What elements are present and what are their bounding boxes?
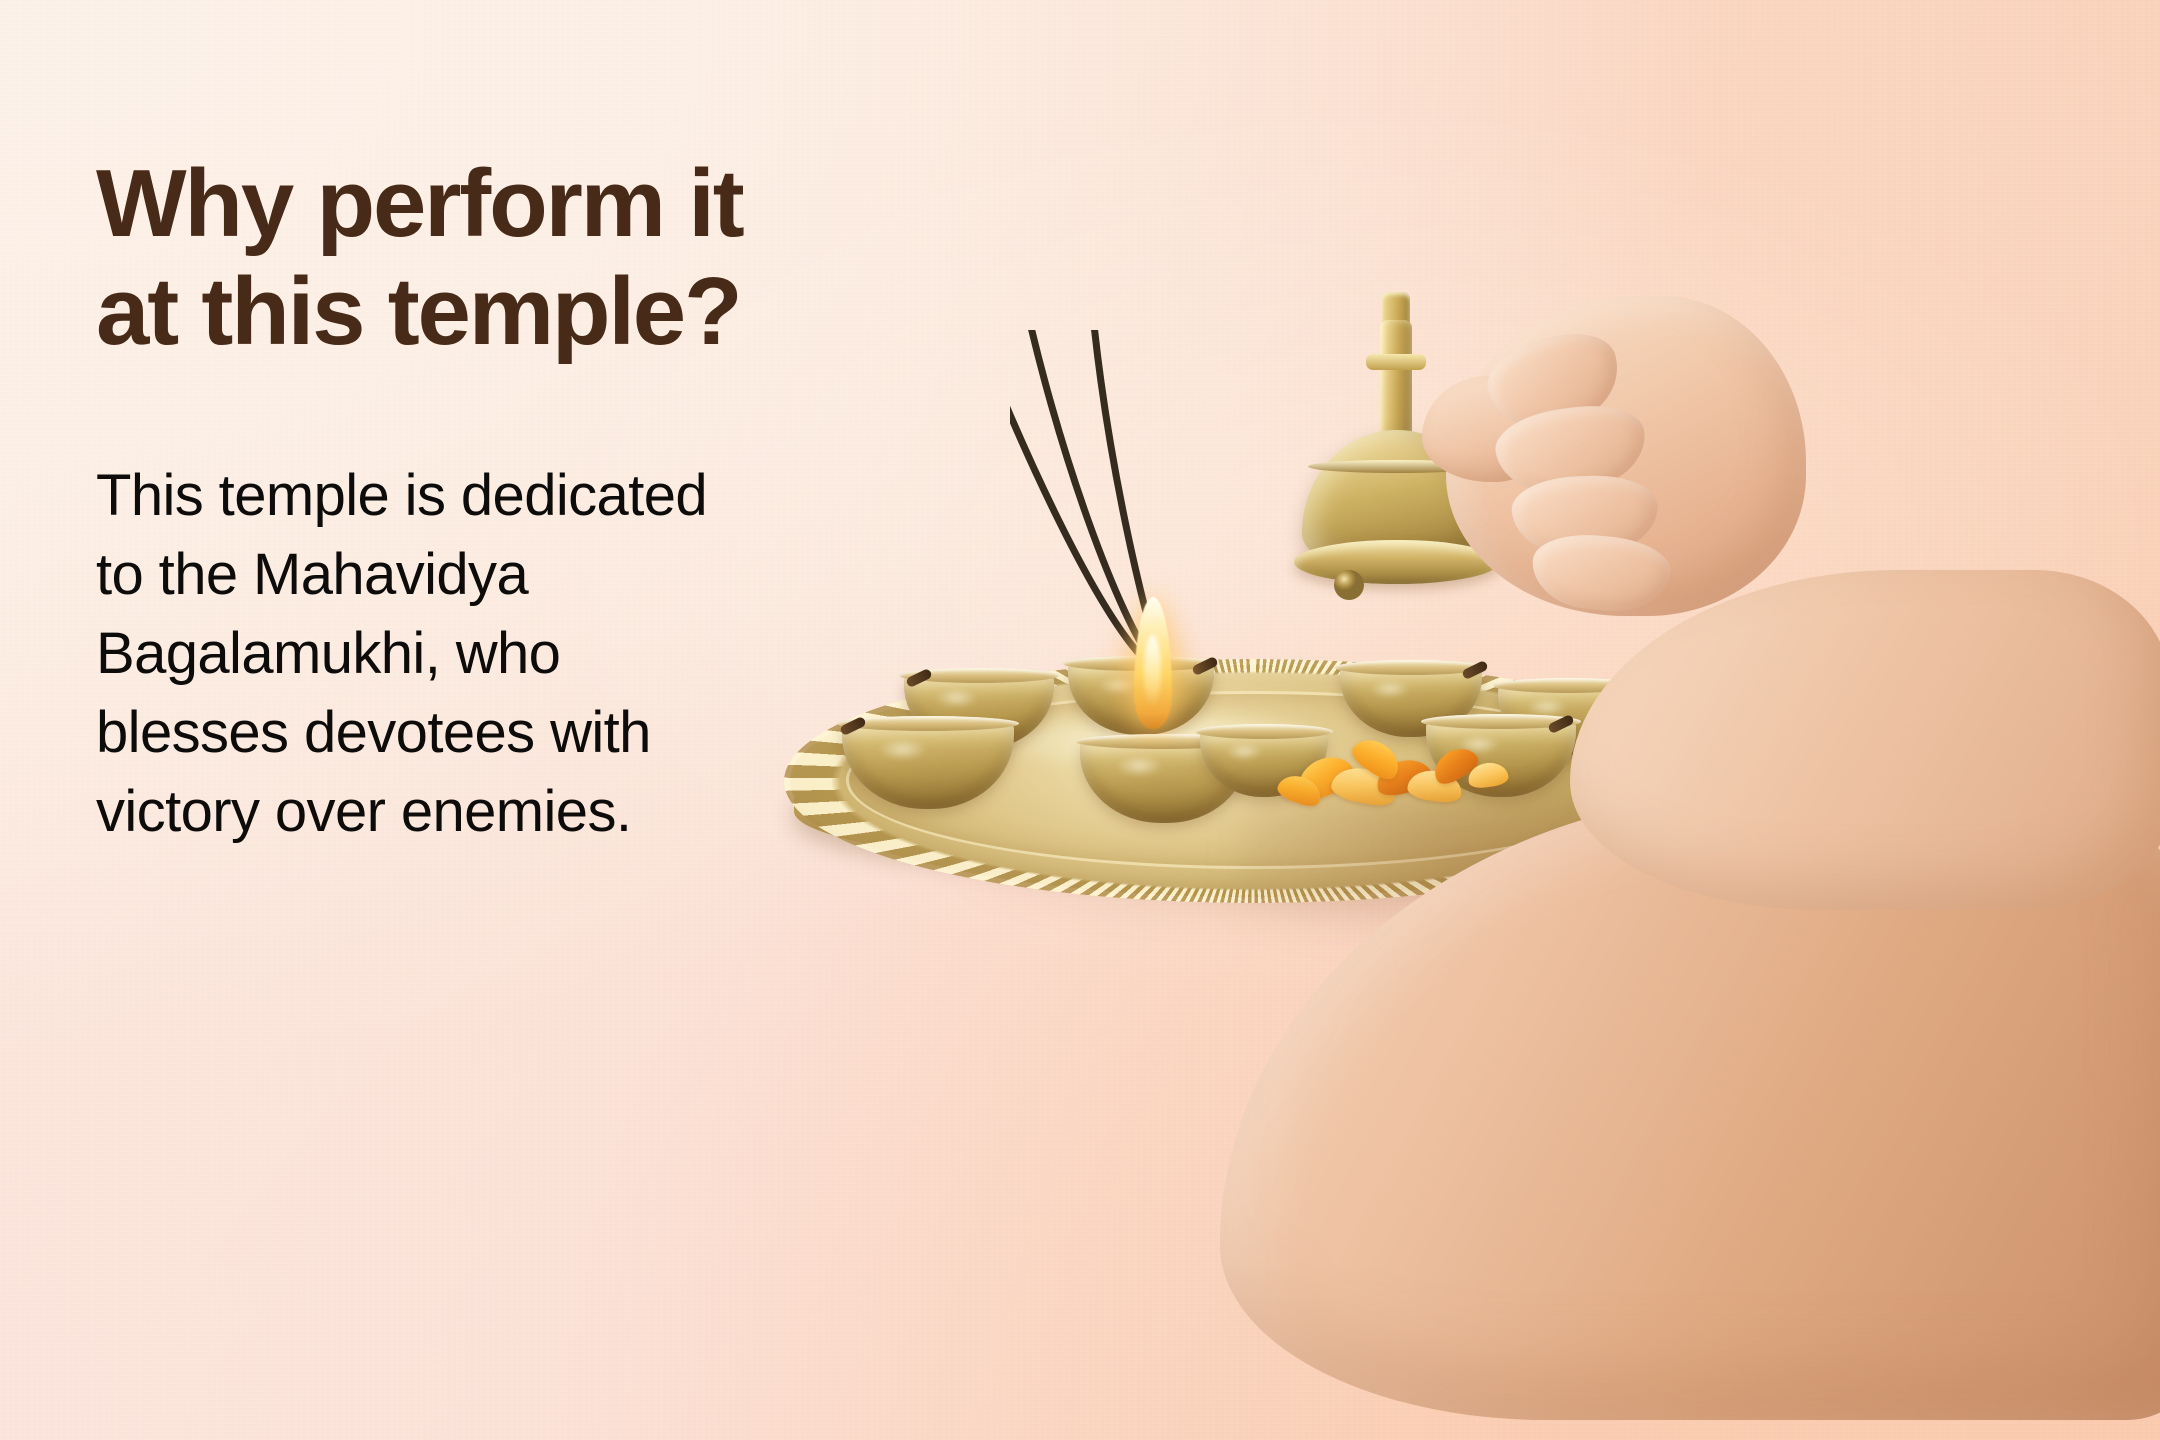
puja-photograph (1010, 330, 2160, 1440)
diya-flame (1118, 597, 1188, 747)
slide-root: Why perform it at this temple? This temp… (0, 0, 2160, 1440)
bell-clapper (1334, 570, 1364, 600)
headline: Why perform it at this temple? (96, 150, 1016, 365)
flame-core (1144, 635, 1161, 707)
bell-holding-hand (1380, 280, 1900, 710)
